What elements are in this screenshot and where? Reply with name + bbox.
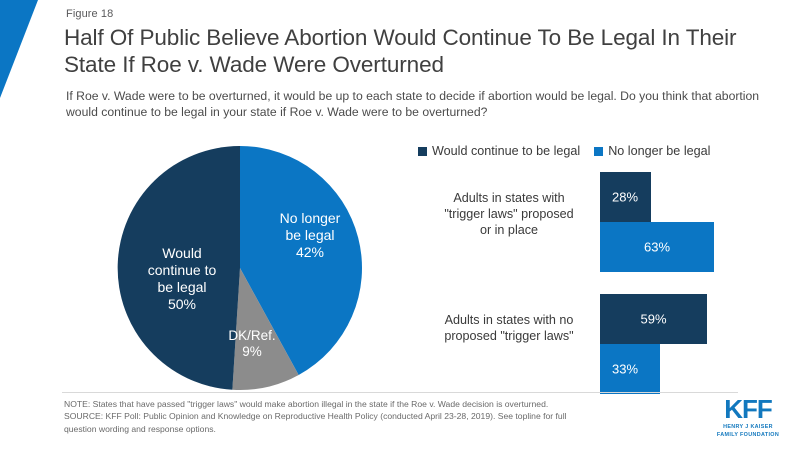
bar-trigger-laws-no-longer: 63% [600, 222, 714, 272]
page-subtitle: If Roe v. Wade were to be overturned, it… [66, 88, 766, 120]
pie-chart [104, 146, 376, 396]
pie-slice-would-continue [118, 146, 240, 390]
bar-category-line: or in place [424, 222, 594, 238]
kff-logo-sub-line1: HENRY J KAISER [706, 424, 790, 431]
bar-value-no-trigger-laws-would-continue: 59% [640, 312, 666, 327]
corner-wedge-decoration [0, 0, 40, 100]
bar-no-trigger-laws-would-continue: 59% [600, 294, 707, 344]
bar-no-trigger-laws-no-longer: 33% [600, 344, 660, 394]
bar-category-line: "trigger laws" proposed [424, 206, 594, 222]
figure-label: Figure 18 [66, 8, 113, 20]
footer-source-line2: question wording and response options. [64, 423, 654, 435]
footer-note: NOTE: States that have passed "trigger l… [64, 398, 654, 410]
kff-logo-sub-line2: FAMILY FOUNDATION [706, 432, 790, 439]
footer-source-line1: SOURCE: KFF Poll: Public Opinion and Kno… [64, 410, 654, 422]
legend-swatch-light-icon [594, 147, 603, 156]
bar-value-trigger-laws-would-continue: 28% [612, 190, 638, 205]
bar-trigger-laws-would-continue: 28% [600, 172, 651, 222]
chart-legend: Would continue to be legal No longer be … [418, 144, 710, 158]
page-title: Half Of Public Believe Abortion Would Co… [64, 24, 764, 78]
legend-swatch-dark-icon [418, 147, 427, 156]
kff-logo-mark: KFF [706, 396, 790, 423]
legend-label-would-continue: Would continue to be legal [432, 144, 580, 158]
kff-logo: KFF HENRY J KAISER FAMILY FOUNDATION [706, 396, 790, 439]
footer-divider [62, 392, 738, 393]
bar-category-line: Adults in states with [424, 190, 594, 206]
footer-notes: NOTE: States that have passed "trigger l… [64, 398, 654, 435]
bar-category-label-trigger-laws: Adults in states with "trigger laws" pro… [424, 190, 594, 238]
bar-category-label-no-trigger-laws: Adults in states with no proposed "trigg… [424, 312, 594, 344]
bar-value-no-trigger-laws-no-longer: 33% [612, 362, 638, 377]
legend-item-no-longer: No longer be legal [594, 144, 710, 158]
bar-category-line: Adults in states with no [424, 312, 594, 328]
legend-label-no-longer: No longer be legal [608, 144, 710, 158]
slide: Figure 18 Half Of Public Believe Abortio… [0, 0, 800, 450]
bar-value-trigger-laws-no-longer: 63% [644, 240, 670, 255]
legend-item-would-continue: Would continue to be legal [418, 144, 580, 158]
bar-category-line: proposed "trigger laws" [424, 328, 594, 344]
